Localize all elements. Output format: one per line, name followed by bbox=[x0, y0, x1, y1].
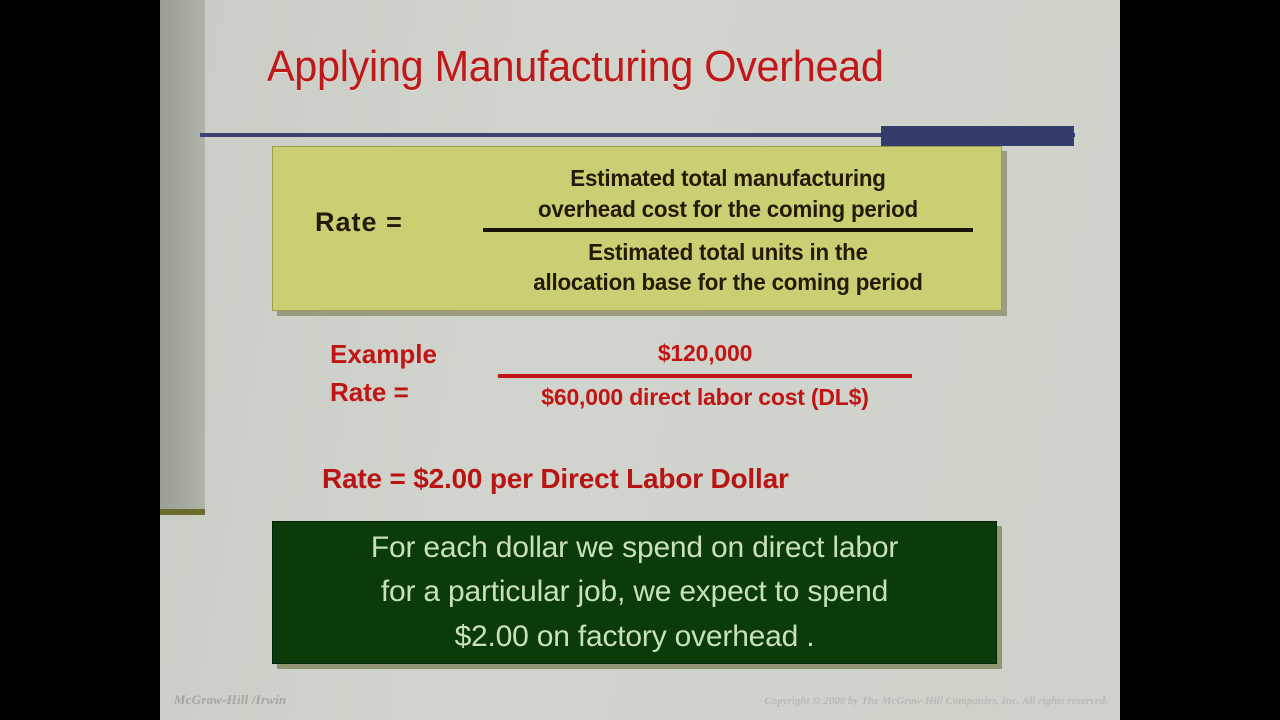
screenshot-stage: Applying Manufacturing Overhead Rate = E… bbox=[0, 0, 1280, 720]
computed-rate-result: Rate = $2.00 per Direct Labor Dollar bbox=[322, 463, 789, 495]
footer-publisher: McGraw-Hill /Irwin bbox=[174, 692, 286, 708]
example-fraction-bar bbox=[498, 374, 912, 378]
example-rate-label-line-1: Example bbox=[330, 336, 437, 374]
formula-numerator-line-1: Estimated total manufacturing bbox=[481, 163, 976, 194]
note-line-2: for a particular job, we expect to spend bbox=[381, 570, 888, 614]
formula-numerator-line-2: overhead cost for the coming period bbox=[481, 194, 976, 225]
slide-left-decorative-bar bbox=[160, 0, 205, 509]
explanation-note-box: For each dollar we spend on direct labor… bbox=[272, 521, 997, 664]
example-fraction: $120,000 $60,000 direct labor cost (DL$) bbox=[490, 338, 920, 413]
title-accent-block bbox=[881, 126, 1074, 146]
page-title: Applying Manufacturing Overhead bbox=[267, 42, 1038, 92]
formula-rate-label: Rate = bbox=[315, 207, 403, 238]
example-numerator: $120,000 bbox=[490, 338, 920, 369]
example-denominator: $60,000 direct labor cost (DL$) bbox=[490, 382, 920, 413]
slide-left-accent-line bbox=[160, 509, 205, 515]
example-rate-label-line-2: Rate = bbox=[330, 374, 437, 412]
formula-denominator-line-1: Estimated total units in the bbox=[481, 237, 976, 268]
note-line-3: $2.00 on factory overhead . bbox=[455, 615, 815, 659]
note-line-1: For each dollar we spend on direct labor bbox=[371, 526, 898, 570]
formula-denominator-line-2: allocation base for the coming period bbox=[481, 267, 976, 298]
predetermined-rate-formula-box: Rate = Estimated total manufacturing ove… bbox=[272, 146, 1002, 311]
presentation-slide: Applying Manufacturing Overhead Rate = E… bbox=[160, 0, 1120, 720]
formula-fraction: Estimated total manufacturing overhead c… bbox=[473, 163, 983, 298]
footer-copyright: Copyright © 2008 by The McGraw-Hill Comp… bbox=[764, 695, 1108, 707]
formula-fraction-bar bbox=[483, 228, 973, 232]
example-rate-label: Example Rate = bbox=[330, 336, 437, 411]
